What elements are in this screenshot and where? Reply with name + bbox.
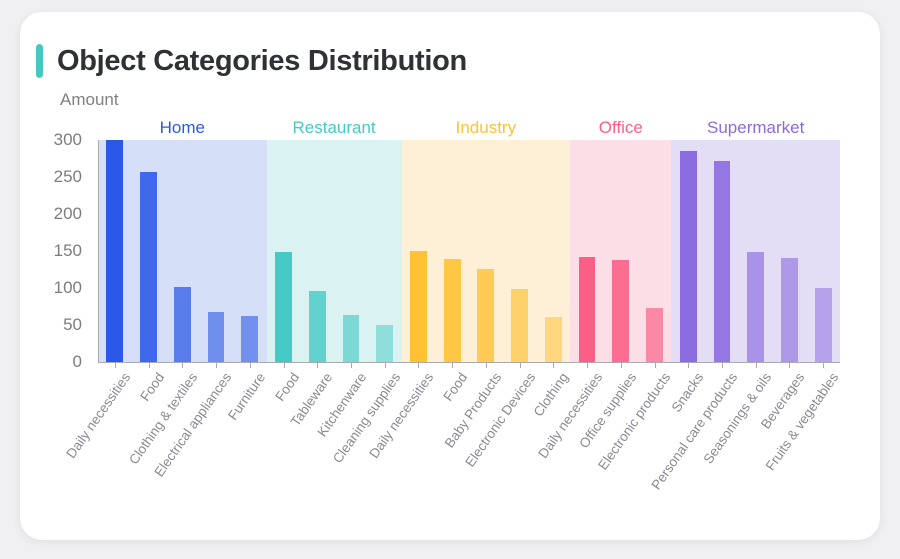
group-title-restaurant: Restaurant — [292, 118, 375, 138]
bar — [208, 312, 225, 362]
x-tick — [250, 362, 251, 368]
page-title: Object Categories Distribution — [57, 45, 467, 78]
x-tick — [115, 362, 116, 368]
x-tick — [284, 362, 285, 368]
plot-area: HomeRestaurantIndustryOfficeSupermarket … — [20, 118, 880, 538]
x-tick — [317, 362, 318, 368]
x-tick — [756, 362, 757, 368]
x-axis-tick-labels: Daily necessitiesFoodClothing & textiles… — [98, 370, 840, 530]
x-tick — [418, 362, 419, 368]
x-tick-label: Daily necessities — [63, 370, 133, 461]
x-tick — [621, 362, 622, 368]
x-tick — [182, 362, 183, 368]
y-tick-label: 0 — [73, 352, 82, 372]
x-tick — [520, 362, 521, 368]
bar — [343, 315, 360, 362]
x-tick — [587, 362, 588, 368]
bar — [410, 251, 427, 362]
bar — [511, 289, 528, 362]
plot-canvas — [98, 140, 840, 362]
bar — [646, 308, 663, 362]
y-tick-label: 250 — [54, 167, 82, 187]
group-title-office: Office — [599, 118, 643, 138]
y-tick-label: 150 — [54, 241, 82, 261]
bar — [579, 257, 596, 362]
y-tick-label: 300 — [54, 130, 82, 150]
bar — [309, 291, 326, 362]
bar — [444, 259, 461, 362]
title-accent-bar — [36, 44, 43, 78]
y-tick-label: 200 — [54, 204, 82, 224]
bar — [714, 161, 731, 362]
bar — [747, 252, 764, 362]
x-tick-label: Food — [440, 370, 470, 404]
x-tick — [789, 362, 790, 368]
group-title-industry: Industry — [456, 118, 516, 138]
x-tick — [216, 362, 217, 368]
y-tick-label: 50 — [63, 315, 82, 335]
y-axis-tick-labels: 050100150200250300 — [20, 140, 90, 362]
x-tick — [722, 362, 723, 368]
y-tick-label: 100 — [54, 278, 82, 298]
bar — [477, 269, 494, 362]
x-tick — [452, 362, 453, 368]
x-tick — [655, 362, 656, 368]
bar — [106, 140, 123, 362]
x-tick-label: Food — [272, 370, 302, 404]
chart-card: Object Categories Distribution Amount Ho… — [20, 12, 880, 540]
x-tick — [385, 362, 386, 368]
bar — [612, 260, 629, 362]
x-tick — [688, 362, 689, 368]
x-tick — [149, 362, 150, 368]
bars-layer — [98, 140, 840, 362]
x-tick-label: Food — [137, 370, 167, 404]
y-axis-title: Amount — [60, 90, 119, 110]
x-tick — [553, 362, 554, 368]
x-axis-line — [98, 362, 840, 363]
bar — [241, 316, 258, 362]
x-tick — [351, 362, 352, 368]
y-axis-line — [98, 140, 99, 362]
bar — [275, 252, 292, 362]
group-legend-titles: HomeRestaurantIndustryOfficeSupermarket — [98, 118, 840, 140]
group-title-home: Home — [160, 118, 205, 138]
bar — [781, 258, 798, 362]
chart-screenshot-root: Object Categories Distribution Amount Ho… — [0, 0, 900, 559]
x-tick — [486, 362, 487, 368]
bar — [815, 288, 832, 362]
bar — [545, 317, 562, 362]
bar — [174, 287, 191, 362]
x-tick — [823, 362, 824, 368]
bar — [376, 325, 393, 362]
group-title-supermarket: Supermarket — [707, 118, 804, 138]
bar — [140, 172, 157, 362]
chart-header: Object Categories Distribution — [36, 44, 467, 78]
bar — [680, 151, 697, 362]
